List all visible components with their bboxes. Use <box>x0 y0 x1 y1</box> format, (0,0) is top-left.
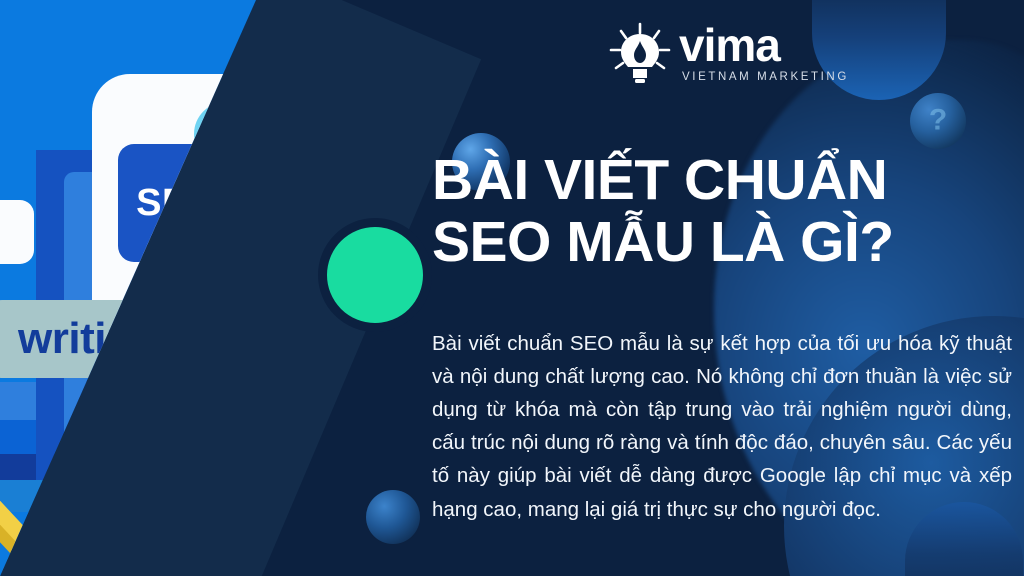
accent-green-circle <box>318 218 432 332</box>
headline-line-1: BÀI VIẾT CHUẨN <box>432 148 887 212</box>
decor-sphere-paragraph <box>366 490 420 544</box>
speech-bubble-icon <box>0 200 34 264</box>
brand-logo[interactable]: vima VIETNAM MARKETING <box>605 22 849 88</box>
slide-canvas: SEO ? writing <box>0 0 1024 576</box>
brand-text: vima VIETNAM MARKETING <box>679 24 849 83</box>
brand-name: vima <box>679 24 849 68</box>
lightbulb-icon <box>605 22 675 88</box>
page-title: BÀI VIẾT CHUẨN SEO MẪU LÀ GÌ? <box>432 150 1012 273</box>
headline-line-2: SEO MẪU LÀ GÌ? <box>432 212 1012 274</box>
decor-sphere-question <box>910 93 966 149</box>
body-paragraph: Bài viết chuẩn SEO mẫu là sự kết hợp của… <box>432 327 1012 526</box>
brand-tagline: VIETNAM MARKETING <box>682 71 849 83</box>
